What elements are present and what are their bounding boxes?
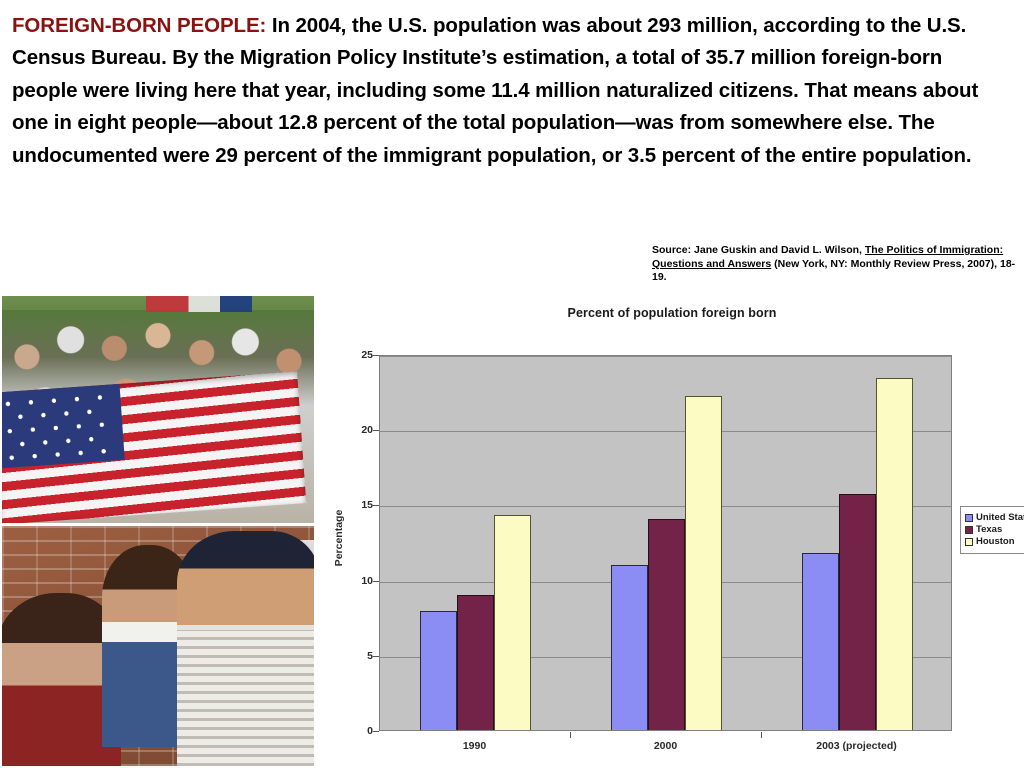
x-axis-tick-label: 2003 (projected) xyxy=(761,740,952,752)
legend-label: Houston xyxy=(976,536,1015,548)
us-flag-icon xyxy=(2,372,306,523)
chart-plot-area xyxy=(379,355,952,731)
bar-united-states[interactable] xyxy=(802,553,839,730)
bar-houston[interactable] xyxy=(685,396,722,730)
bar-group xyxy=(380,356,571,730)
legend-swatch-icon xyxy=(965,514,973,522)
legend-swatch-icon xyxy=(965,538,973,546)
x-axis-tick-label: 2000 xyxy=(570,740,761,752)
y-axis-tick-mark xyxy=(373,505,379,506)
immigrant-family-photo xyxy=(2,526,314,766)
bar-texas[interactable] xyxy=(839,494,876,730)
legend-item-united-states[interactable]: United States xyxy=(965,512,1024,524)
x-axis-tick-label: 1990 xyxy=(379,740,570,752)
y-axis-tick-label: 5 xyxy=(337,650,373,662)
bar-houston[interactable] xyxy=(876,378,913,730)
legend-item-texas[interactable]: Texas xyxy=(965,524,1024,536)
legend-swatch-icon xyxy=(965,526,973,534)
bar-houston[interactable] xyxy=(494,515,531,730)
y-axis-tick-label: 0 xyxy=(337,725,373,737)
slide-headline-paragraph: FOREIGN-BORN PEOPLE: In 2004, the U.S. p… xyxy=(12,10,1012,172)
legend-label: United States xyxy=(976,512,1024,524)
y-axis-tick-mark xyxy=(373,656,379,657)
y-axis-tick-mark xyxy=(373,731,379,732)
legend-item-houston[interactable]: Houston xyxy=(965,536,1024,548)
bar-group xyxy=(762,356,953,730)
bar-united-states[interactable] xyxy=(420,611,457,730)
rally-banner xyxy=(146,296,252,312)
immigration-rally-photo xyxy=(2,296,314,523)
slide-root: FOREIGN-BORN PEOPLE: In 2004, the U.S. p… xyxy=(0,0,1024,768)
lead-label: FOREIGN-BORN PEOPLE: xyxy=(12,14,266,37)
y-axis-tick-mark xyxy=(373,581,379,582)
flag-canton xyxy=(2,384,125,469)
y-axis-tick-label: 20 xyxy=(337,424,373,436)
x-axis-tick-mark xyxy=(570,732,571,738)
bar-group xyxy=(571,356,762,730)
chart-y-axis-title: Percentage xyxy=(333,478,345,598)
y-axis-tick-label: 25 xyxy=(337,349,373,361)
source-title-line1: The Politics of Immigration: xyxy=(865,244,1003,256)
bar-united-states[interactable] xyxy=(611,565,648,730)
foreign-born-bar-chart: Percent of population foreign born 05101… xyxy=(322,298,1022,766)
source-citation: Source: Jane Guskin and David L. Wilson,… xyxy=(652,244,1016,285)
y-axis-tick-mark xyxy=(373,430,379,431)
bar-texas[interactable] xyxy=(648,519,685,730)
chart-legend: United StatesTexasHouston xyxy=(960,506,1024,554)
y-axis-tick-mark xyxy=(373,355,379,356)
source-prefix: Source: Jane Guskin and David L. Wilson, xyxy=(652,244,865,256)
legend-label: Texas xyxy=(976,524,1002,536)
chart-title: Percent of population foreign born xyxy=(322,306,1022,320)
bar-texas[interactable] xyxy=(457,595,494,730)
x-axis-tick-mark xyxy=(761,732,762,738)
source-title-line2: Questions and Answers xyxy=(652,258,771,270)
father-figure xyxy=(177,531,314,766)
